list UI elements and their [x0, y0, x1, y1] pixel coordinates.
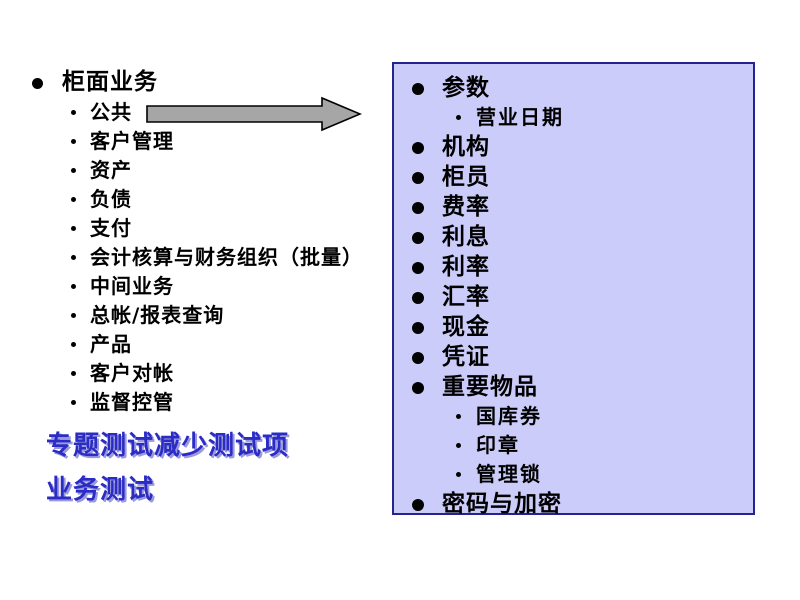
filled-circle-bullet-icon: [412, 232, 424, 244]
right-panel-item-label: 机构: [442, 133, 490, 160]
left-outline-item-6: 中间业务: [26, 272, 386, 301]
filled-circle-bullet-icon: [412, 83, 424, 95]
left-outline-item-label: 总帐/报表查询: [90, 303, 224, 327]
right-panel-item-label: 费率: [442, 193, 490, 220]
small-dot-bullet-icon: [71, 284, 76, 289]
left-outline-item-2: 资产: [26, 156, 386, 185]
small-dot-bullet-icon: [71, 255, 76, 260]
small-dot-bullet-icon: [71, 139, 76, 144]
left-outline-heading-row: 柜面业务: [26, 66, 386, 98]
small-dot-bullet-icon: [456, 414, 461, 419]
right-panel-item-label: 密码与加密: [442, 490, 562, 517]
right-block-arrow-icon: [146, 96, 362, 132]
small-dot-bullet-icon: [456, 115, 461, 120]
right-panel-item-14: 密码与加密: [404, 489, 744, 519]
small-dot-bullet-icon: [71, 168, 76, 173]
left-outline-item-3: 负债: [26, 185, 386, 214]
small-dot-bullet-icon: [71, 226, 76, 231]
small-dot-bullet-icon: [71, 371, 76, 376]
left-outline-heading-label: 柜面业务: [62, 68, 158, 95]
right-panel-item-2: 机构: [404, 132, 744, 162]
right-panel-item-13: 管理锁: [404, 460, 744, 489]
right-panel-list: 参数 营业日期 机构 柜员 费率 利息: [404, 73, 744, 519]
right-panel-item-label: 汇率: [442, 283, 490, 310]
left-outline-item-label: 中间业务: [90, 274, 174, 298]
right-panel-item-label: 国库券: [476, 404, 542, 428]
right-panel-item-8: 现金: [404, 312, 744, 342]
emphasis-line-0: 专题测试减少测试项: [46, 424, 376, 468]
right-panel-item-6: 利率: [404, 252, 744, 282]
filled-circle-bullet-icon: [412, 202, 424, 214]
small-dot-bullet-icon: [71, 342, 76, 347]
left-outline-item-label: 产品: [90, 332, 132, 356]
right-panel-item-label: 管理锁: [476, 462, 542, 486]
right-panel-item-label: 柜员: [442, 163, 490, 190]
right-panel-item-label: 利息: [442, 223, 490, 250]
left-outline-item-label: 监督控管: [90, 390, 174, 414]
filled-circle-bullet-icon: [412, 499, 424, 511]
right-panel-item-label: 重要物品: [442, 373, 538, 400]
left-outline-item-label: 公共: [90, 100, 132, 124]
left-outline-item-label: 客户对帐: [90, 361, 174, 385]
right-panel-item-label: 利率: [442, 253, 490, 280]
right-panel-item-label: 凭证: [442, 343, 490, 370]
right-panel-item-label: 现金: [442, 313, 490, 340]
filled-circle-bullet-icon: [412, 322, 424, 334]
filled-circle-bullet-icon: [412, 382, 424, 394]
right-panel-item-label: 参数: [442, 74, 490, 101]
right-panel-item-5: 利息: [404, 222, 744, 252]
right-panel-item-9: 凭证: [404, 342, 744, 372]
left-outline-item-10: 监督控管: [26, 388, 386, 417]
right-panel-item-label: 印章: [476, 433, 520, 457]
filled-circle-bullet-icon: [412, 352, 424, 364]
left-outline-item-5: 会计核算与财务组织（批量）: [26, 243, 386, 272]
right-panel-item-12: 印章: [404, 431, 744, 460]
small-dot-bullet-icon: [71, 197, 76, 202]
filled-circle-bullet-icon: [412, 262, 424, 274]
right-panel-item-3: 柜员: [404, 162, 744, 192]
slide-canvas: 柜面业务 公共 客户管理 资产 负债 支付 会计核算与财务组织（批量） 中间: [0, 0, 800, 600]
left-outline-item-7: 总帐/报表查询: [26, 301, 386, 330]
left-outline-item-label: 支付: [90, 216, 132, 240]
right-panel-box: 参数 营业日期 机构 柜员 费率 利息: [392, 62, 755, 515]
filled-circle-bullet-icon: [412, 142, 424, 154]
right-panel-item-10: 重要物品: [404, 372, 744, 402]
left-outline-item-label: 客户管理: [90, 129, 174, 153]
right-panel-item-1: 营业日期: [404, 103, 744, 132]
filled-circle-bullet-icon: [32, 78, 43, 89]
small-dot-bullet-icon: [456, 443, 461, 448]
left-outline-item-label: 会计核算与财务组织（批量）: [90, 245, 363, 269]
small-dot-bullet-icon: [71, 313, 76, 318]
filled-circle-bullet-icon: [412, 172, 424, 184]
right-panel-item-label: 营业日期: [476, 105, 564, 129]
left-outline-item-label: 资产: [90, 158, 132, 182]
right-panel-item-4: 费率: [404, 192, 744, 222]
small-dot-bullet-icon: [71, 400, 76, 405]
right-panel-item-7: 汇率: [404, 282, 744, 312]
small-dot-bullet-icon: [71, 110, 76, 115]
small-dot-bullet-icon: [456, 472, 461, 477]
right-panel-item-0: 参数: [404, 73, 744, 103]
left-outline-item-8: 产品: [26, 330, 386, 359]
filled-circle-bullet-icon: [412, 292, 424, 304]
emphasis-line-1: 业务测试: [46, 468, 376, 512]
left-outline-item-4: 支付: [26, 214, 386, 243]
emphasis-text-block: 专题测试减少测试项 业务测试: [46, 424, 376, 512]
left-outline-item-9: 客户对帐: [26, 359, 386, 388]
left-outline-item-label: 负债: [90, 187, 132, 211]
right-panel-item-11: 国库券: [404, 402, 744, 431]
